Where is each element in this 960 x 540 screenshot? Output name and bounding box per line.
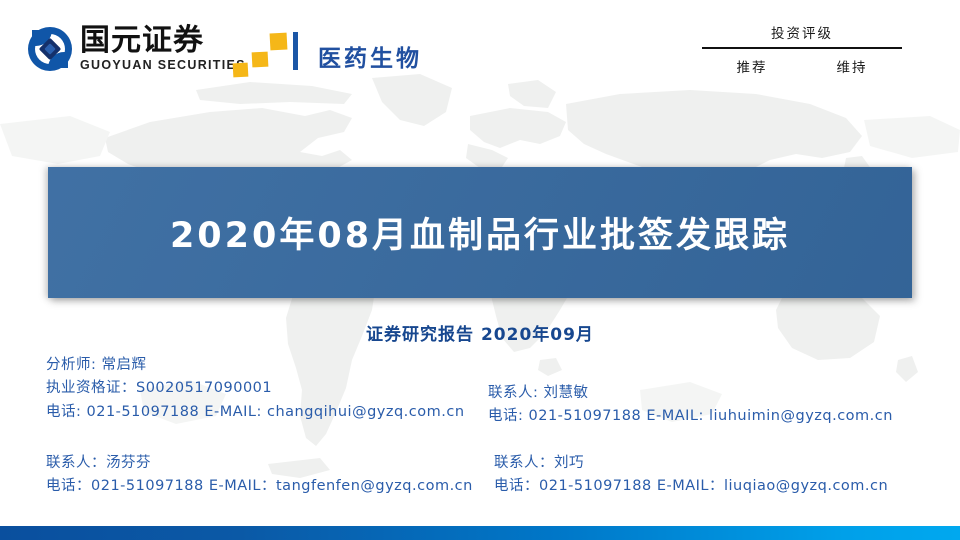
company-logo: 国元证券 GUOYUAN SECURITIES bbox=[28, 26, 246, 72]
company-logo-text: 国元证券 GUOYUAN SECURITIES bbox=[80, 26, 246, 72]
contact-tangfenfen-name: 联系人：汤芬芬 bbox=[46, 452, 473, 475]
contact-liuqiao-block: 联系人：刘巧 电话：021-51097188 E-MAIL：liuqiao@gy… bbox=[494, 452, 888, 499]
rating-values: 推荐 维持 bbox=[702, 49, 902, 76]
accent-square-1 bbox=[233, 63, 249, 78]
contacts-section: 分析师: 常启辉 执业资格证：S0020517090001 电话: 021-51… bbox=[0, 352, 960, 512]
accent-square-2 bbox=[252, 52, 269, 68]
contact-liuhuimin-block: 联系人: 刘慧敏 电话: 021-51097188 E-MAIL: liuhui… bbox=[488, 382, 893, 429]
contact-liuhuimin-contact: 电话: 021-51097188 E-MAIL: liuhuimin@gyzq.… bbox=[488, 405, 893, 428]
rating-status: 维持 bbox=[837, 56, 868, 76]
contact-tangfenfen-block: 联系人：汤芬芬 电话：021-51097188 E-MAIL：tangfenfe… bbox=[46, 452, 473, 499]
analyst-contact: 电话: 021-51097188 E-MAIL: changqihui@gyzq… bbox=[46, 401, 465, 424]
contact-tangfenfen-contact: 电话：021-51097188 E-MAIL：tangfenfen@gyzq.c… bbox=[46, 475, 473, 498]
analyst-certificate: 执业资格证：S0020517090001 bbox=[46, 377, 465, 400]
vertical-divider bbox=[293, 32, 298, 70]
analyst-block: 分析师: 常启辉 执业资格证：S0020517090001 电话: 021-51… bbox=[46, 354, 465, 424]
contact-liuqiao-name: 联系人：刘巧 bbox=[494, 452, 888, 475]
contact-liuhuimin-name: 联系人: 刘慧敏 bbox=[488, 382, 893, 405]
rating-value: 推荐 bbox=[737, 56, 768, 76]
company-name-en: GUOYUAN SECURITIES bbox=[80, 59, 246, 72]
slide-cover: 国元证券 GUOYUAN SECURITIES 医药生物 投资评级 推荐 维持 … bbox=[0, 0, 960, 540]
bottom-accent-bar bbox=[0, 526, 960, 540]
report-title: 2020年08月血制品行业批签发跟踪 bbox=[170, 207, 790, 258]
investment-rating-box: 投资评级 推荐 维持 bbox=[702, 22, 902, 76]
contact-liuqiao-contact: 电话：021-51097188 E-MAIL：liuqiao@gyzq.com.… bbox=[494, 475, 888, 498]
rating-title: 投资评级 bbox=[702, 22, 902, 47]
title-banner: 2020年08月血制品行业批签发跟踪 bbox=[48, 167, 912, 298]
report-subtitle: 证券研究报告 2020年09月 bbox=[0, 320, 960, 345]
analyst-name: 分析师: 常启辉 bbox=[46, 354, 465, 377]
company-name-cn: 国元证券 bbox=[80, 26, 246, 56]
guoyuan-logo-icon bbox=[28, 27, 72, 71]
sector-label: 医药生物 bbox=[318, 39, 422, 73]
accent-square-3 bbox=[270, 33, 288, 51]
